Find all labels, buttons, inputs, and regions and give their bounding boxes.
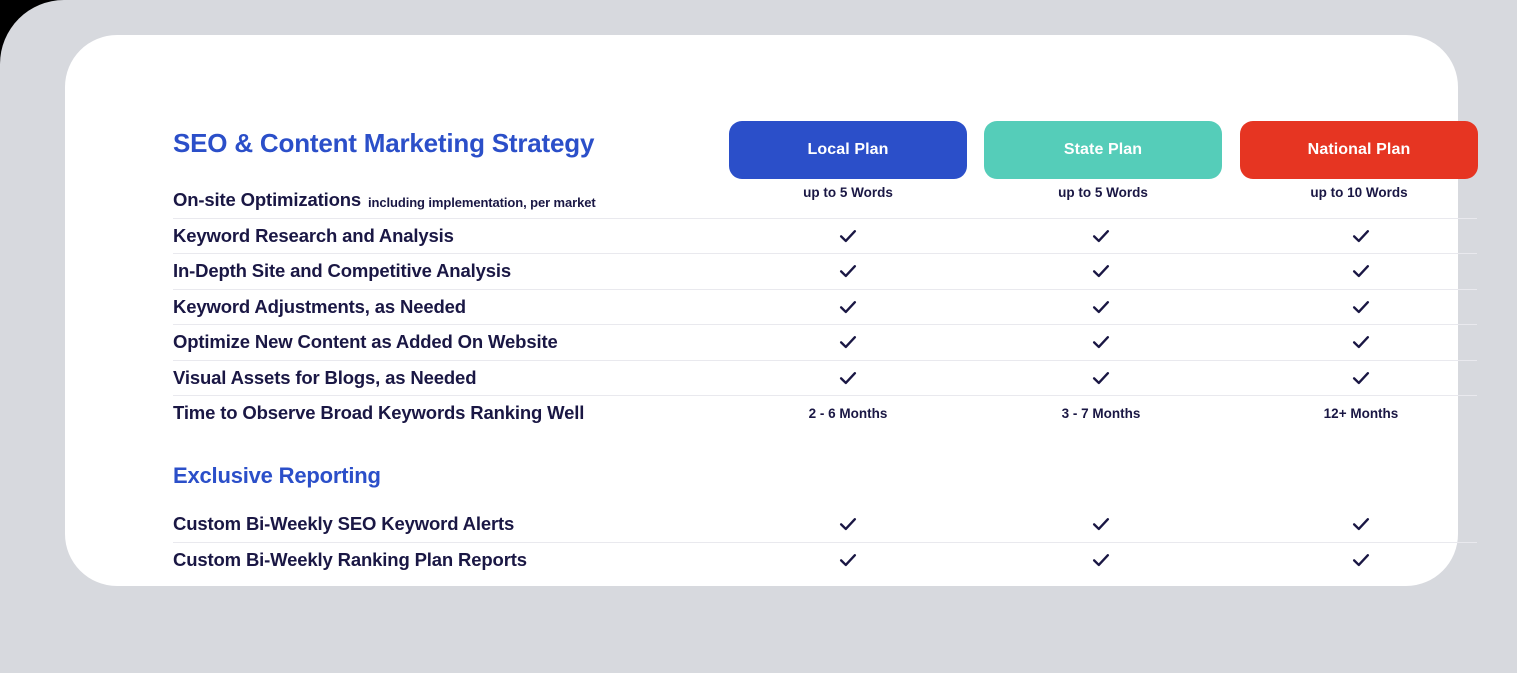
- plan-pill-state[interactable]: State Plan: [984, 121, 1222, 179]
- plan-header-group: Local Plan State Plan National Plan up t…: [729, 121, 1479, 179]
- table-row: Custom Bi-Weekly SEO Keyword Alerts: [173, 507, 1477, 543]
- feature-cell: [1021, 507, 1181, 542]
- check-icon: [1350, 225, 1372, 247]
- feature-cell: [1021, 183, 1181, 218]
- feature-cell: [1281, 219, 1441, 254]
- feature-cell: 3 - 7 Months: [1021, 396, 1181, 431]
- page-title: SEO & Content Marketing Strategy: [173, 128, 594, 159]
- check-icon: [1090, 225, 1112, 247]
- plan-pill-local[interactable]: Local Plan: [729, 121, 967, 179]
- pricing-comparison-card: SEO & Content Marketing Strategy Local P…: [65, 35, 1458, 586]
- feature-cell-value: 12+ Months: [1324, 406, 1399, 421]
- feature-cell: [1281, 183, 1441, 218]
- check-icon: [837, 367, 859, 389]
- check-icon: [1090, 549, 1112, 571]
- plan-pill-national[interactable]: National Plan: [1240, 121, 1478, 179]
- feature-cell-value: 2 - 6 Months: [809, 406, 888, 421]
- check-icon: [1350, 331, 1372, 353]
- feature-row-label: Keyword Research and Analysis: [173, 219, 454, 254]
- feature-label-text: Keyword Research and Analysis: [173, 225, 454, 247]
- table-row: Time to Observe Broad Keywords Ranking W…: [173, 396, 1477, 431]
- feature-cell: [1281, 290, 1441, 325]
- check-icon: [837, 513, 859, 535]
- feature-cell: [1281, 361, 1441, 396]
- check-icon: [1090, 367, 1112, 389]
- check-icon: [1350, 260, 1372, 282]
- table-row: Optimize New Content as Added On Website: [173, 325, 1477, 361]
- feature-row-label: Keyword Adjustments, as Needed: [173, 290, 466, 325]
- check-icon: [1350, 549, 1372, 571]
- feature-label-text: On-site Optimizations: [173, 189, 361, 211]
- feature-cell: [1021, 290, 1181, 325]
- feature-cell: [768, 361, 928, 396]
- feature-cell: [768, 219, 928, 254]
- check-icon: [1350, 367, 1372, 389]
- feature-cell: [768, 543, 928, 578]
- table-row: Keyword Research and Analysis: [173, 219, 1477, 255]
- check-icon: [1090, 513, 1112, 535]
- feature-cell: 2 - 6 Months: [768, 396, 928, 431]
- feature-label-text: Time to Observe Broad Keywords Ranking W…: [173, 402, 584, 424]
- feature-row-label: Time to Observe Broad Keywords Ranking W…: [173, 396, 584, 431]
- feature-label-text: Visual Assets for Blogs, as Needed: [173, 367, 476, 389]
- check-icon: [1350, 296, 1372, 318]
- feature-cell: [1281, 507, 1441, 542]
- table-row: Keyword Adjustments, as Needed: [173, 290, 1477, 326]
- check-icon: [837, 331, 859, 353]
- plan-pill-national-label: National Plan: [1308, 141, 1411, 159]
- feature-label-text: Custom Bi-Weekly SEO Keyword Alerts: [173, 513, 514, 535]
- feature-cell: [768, 254, 928, 289]
- feature-label-text: Custom Bi-Weekly Ranking Plan Reports: [173, 549, 527, 571]
- feature-row-label: In-Depth Site and Competitive Analysis: [173, 254, 511, 289]
- feature-cell: [768, 325, 928, 360]
- feature-cell: 12+ Months: [1281, 396, 1441, 431]
- feature-cell-value: 3 - 7 Months: [1062, 406, 1141, 421]
- table-row: Visual Assets for Blogs, as Needed: [173, 361, 1477, 397]
- feature-label-text: Keyword Adjustments, as Needed: [173, 296, 466, 318]
- screenshot-root: SEO & Content Marketing Strategy Local P…: [0, 0, 1517, 673]
- feature-row-label: Custom Bi-Weekly Ranking Plan Reports: [173, 543, 527, 578]
- feature-label-text: Optimize New Content as Added On Website: [173, 331, 558, 353]
- feature-row-label: Custom Bi-Weekly SEO Keyword Alerts: [173, 507, 514, 542]
- plan-pill-state-label: State Plan: [1064, 141, 1142, 159]
- check-icon: [837, 225, 859, 247]
- table-row: On-site Optimizationsincluding implement…: [173, 183, 1477, 219]
- feature-cell: [1021, 361, 1181, 396]
- feature-cell: [1281, 325, 1441, 360]
- check-icon: [1090, 331, 1112, 353]
- feature-cell: [768, 290, 928, 325]
- feature-cell: [768, 183, 928, 218]
- table-row: In-Depth Site and Competitive Analysis: [173, 254, 1477, 290]
- section-heading-exclusive-reporting: Exclusive Reporting: [173, 463, 381, 489]
- feature-table-strategy: On-site Optimizationsincluding implement…: [173, 183, 1477, 431]
- feature-cell: [1021, 219, 1181, 254]
- feature-cell: [1021, 254, 1181, 289]
- table-row: Custom Bi-Weekly Ranking Plan Reports: [173, 543, 1477, 578]
- feature-cell: [1281, 254, 1441, 289]
- feature-cell: [1281, 543, 1441, 578]
- feature-cell: [768, 507, 928, 542]
- feature-cell: [1021, 543, 1181, 578]
- check-icon: [1350, 513, 1372, 535]
- check-icon: [1090, 296, 1112, 318]
- check-icon: [837, 549, 859, 571]
- feature-label-text: In-Depth Site and Competitive Analysis: [173, 260, 511, 282]
- plan-pill-local-label: Local Plan: [807, 141, 888, 159]
- feature-row-label: Optimize New Content as Added On Website: [173, 325, 558, 360]
- feature-cell: [1021, 325, 1181, 360]
- feature-table-reporting: Custom Bi-Weekly SEO Keyword AlertsCusto…: [173, 507, 1477, 577]
- check-icon: [837, 260, 859, 282]
- feature-row-label: Visual Assets for Blogs, as Needed: [173, 361, 476, 396]
- check-icon: [837, 296, 859, 318]
- feature-row-label: On-site Optimizationsincluding implement…: [173, 183, 596, 218]
- feature-label-note: including implementation, per market: [368, 195, 596, 210]
- check-icon: [1090, 260, 1112, 282]
